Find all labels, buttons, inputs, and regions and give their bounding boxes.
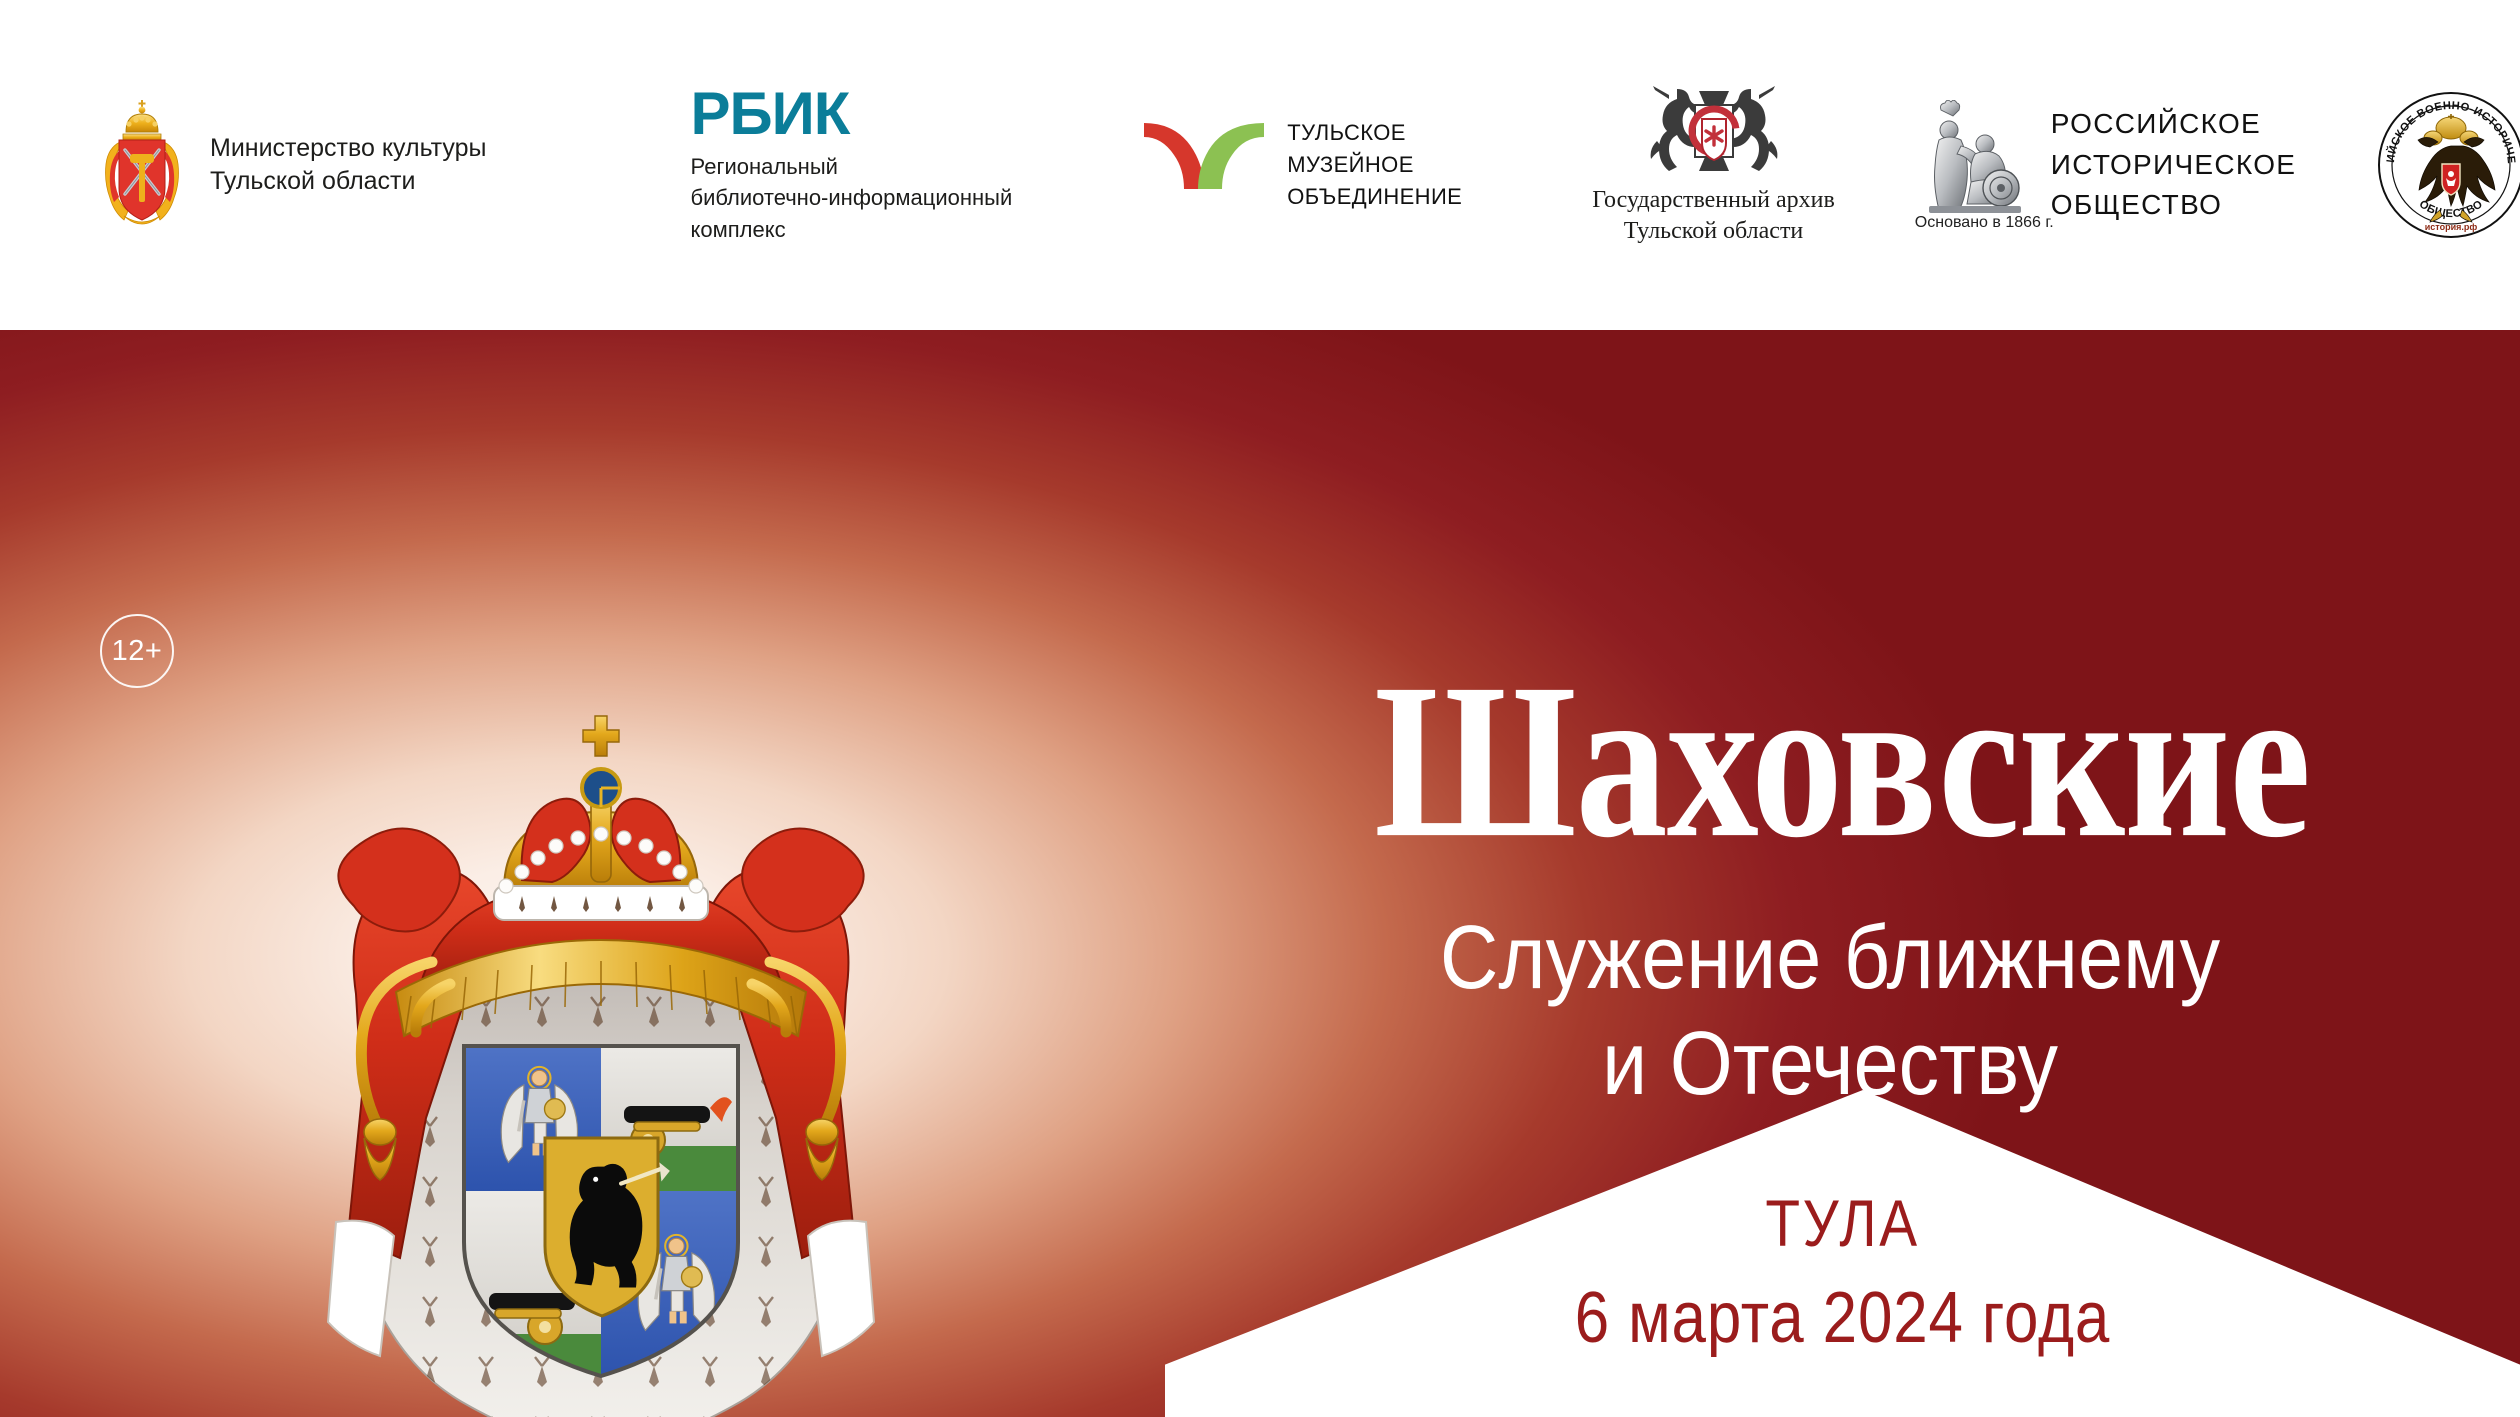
minin-pozharsky-statue-icon: Основано в 1866 г. — [1915, 100, 2035, 230]
logo-tmo-line2: МУЗЕЙНОЕ — [1287, 149, 1462, 181]
title-block: Шаховские Служение ближнему и Отечеству — [1340, 657, 2320, 1117]
age-rating-badge: 12+ — [100, 614, 174, 688]
logo-rbik-line1: Региональный — [691, 151, 1013, 182]
shakhovskoy-coat-of-arms-icon — [236, 694, 966, 1417]
logo-tmo-text: ТУЛЬСКОЕ МУЗЕЙНОЕ ОБЪЕДИНЕНИЕ — [1287, 117, 1462, 213]
logo-rio-line1: РОССИЙСКОЕ — [2051, 104, 2296, 145]
logo-military-historical-society[interactable]: РОССИЙСКОЕ ВОЕННО-ИСТОРИЧЕСКОЕ ОБЩЕСТВО — [2376, 90, 2520, 240]
double-headed-eagle-seal-icon: РОССИЙСКОЕ ВОЕННО-ИСТОРИЧЕСКОЕ ОБЩЕСТВО — [2376, 90, 2520, 240]
venue-city: ТУЛА — [1260, 1190, 2425, 1256]
logo-gato-text: Государственный архив Тульской области — [1592, 185, 1835, 247]
subtitle: Служение ближнему и Отечеству — [1389, 905, 2271, 1117]
logo-tula-museum-association[interactable]: ТУЛЬСКОЕ МУЗЕЙНОЕ ОБЪЕДИНЕНИЕ — [1142, 117, 1462, 213]
logo-ministry-line1: Министерство культуры — [210, 132, 487, 165]
logo-ministry-of-culture[interactable]: Министерство культуры Тульской области — [96, 98, 487, 233]
logo-tmo-line3: ОБЪЕДИНЕНИЕ — [1287, 181, 1462, 213]
rbik-wordmark-icon: РБИК — [691, 85, 850, 142]
logo-russian-historical-society[interactable]: Основано в 1866 г. РОССИЙСКОЕ ИСТОРИЧЕСК… — [1915, 100, 2296, 230]
age-rating-label: 12+ — [112, 635, 163, 668]
tmo-leaf-mark-icon — [1142, 117, 1267, 212]
partner-logo-bar: Министерство культуры Тульской области Р… — [0, 0, 2520, 330]
logo-rio-founded: Основано в 1866 г. — [1915, 214, 2035, 232]
page-title: Шаховские — [1374, 657, 2285, 865]
logo-gato-line1: Государственный архив — [1592, 185, 1835, 216]
logo-rio-text: РОССИЙСКОЕ ИСТОРИЧЕСКОЕ ОБЩЕСТВО — [2051, 104, 2296, 227]
tula-coat-of-arms-icon — [96, 98, 188, 233]
unicorn-crest-icon — [1639, 83, 1789, 179]
venue-block: ТУЛА 6 марта 2024 года — [1165, 1190, 2520, 1354]
logo-ministry-line2: Тульской области — [210, 165, 487, 198]
venue-date: 6 марта 2024 года — [1260, 1282, 2425, 1354]
logo-tmo-line1: ТУЛЬСКОЕ — [1287, 117, 1462, 149]
logo-rbik-line2: библиотечно-информационный — [691, 182, 1013, 213]
logo-rbik-line3: комплекс — [691, 214, 1013, 245]
poster-root: 12+ — [0, 0, 2520, 1417]
logo-rbik[interactable]: РБИК Региональный библиотечно-информацио… — [691, 85, 1013, 245]
logo-state-archive[interactable]: Государственный архив Тульской области — [1592, 83, 1835, 247]
logo-rio-line3: ОБЩЕСТВО — [2051, 185, 2296, 226]
logo-rio-line2: ИСТОРИЧЕСКОЕ — [2051, 145, 2296, 186]
rvio-site-text: история.рф — [2425, 222, 2478, 232]
logo-rbik-text: Региональный библиотечно-информационный … — [691, 151, 1013, 245]
logo-gato-line2: Тульской области — [1592, 216, 1835, 247]
logo-ministry-text: Министерство культуры Тульской области — [210, 132, 487, 198]
